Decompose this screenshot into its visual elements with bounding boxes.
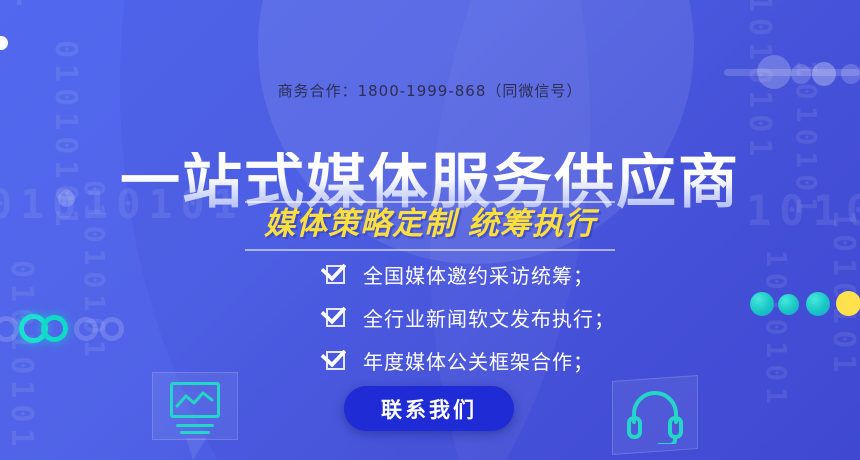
list-item-label: 全国媒体邀约采访统筹； xyxy=(363,260,594,289)
feature-list: 全国媒体邀约采访统筹； 全行业新闻软文发布执行； 年度媒体公关框架合作； xyxy=(326,253,746,382)
checkbox-checked-icon xyxy=(326,308,345,327)
promo-banner: 1 01010101 01010101 01010101 01010101 10… xyxy=(0,0,860,460)
list-item: 年度媒体公关框架合作； xyxy=(326,339,746,382)
list-item: 全国媒体邀约采访统筹； xyxy=(326,253,746,296)
list-item-label: 全行业新闻软文发布执行； xyxy=(363,303,615,332)
checkbox-checked-icon xyxy=(326,265,345,284)
divider-line xyxy=(245,249,615,251)
list-item-label: 年度媒体公关框架合作； xyxy=(363,346,594,375)
contact-us-button[interactable]: 联系我们 xyxy=(344,386,514,431)
list-item: 全行业新闻软文发布执行； xyxy=(326,296,746,339)
banner-content: 商务合作：1800-1999-868（同微信号） 一站式媒体服务供应商 媒体策略… xyxy=(0,0,860,460)
subheadline: 媒体策略定制 统筹执行 xyxy=(0,198,860,243)
checkbox-checked-icon xyxy=(326,351,345,370)
contact-phone-line: 商务合作：1800-1999-868（同微信号） xyxy=(0,80,860,101)
